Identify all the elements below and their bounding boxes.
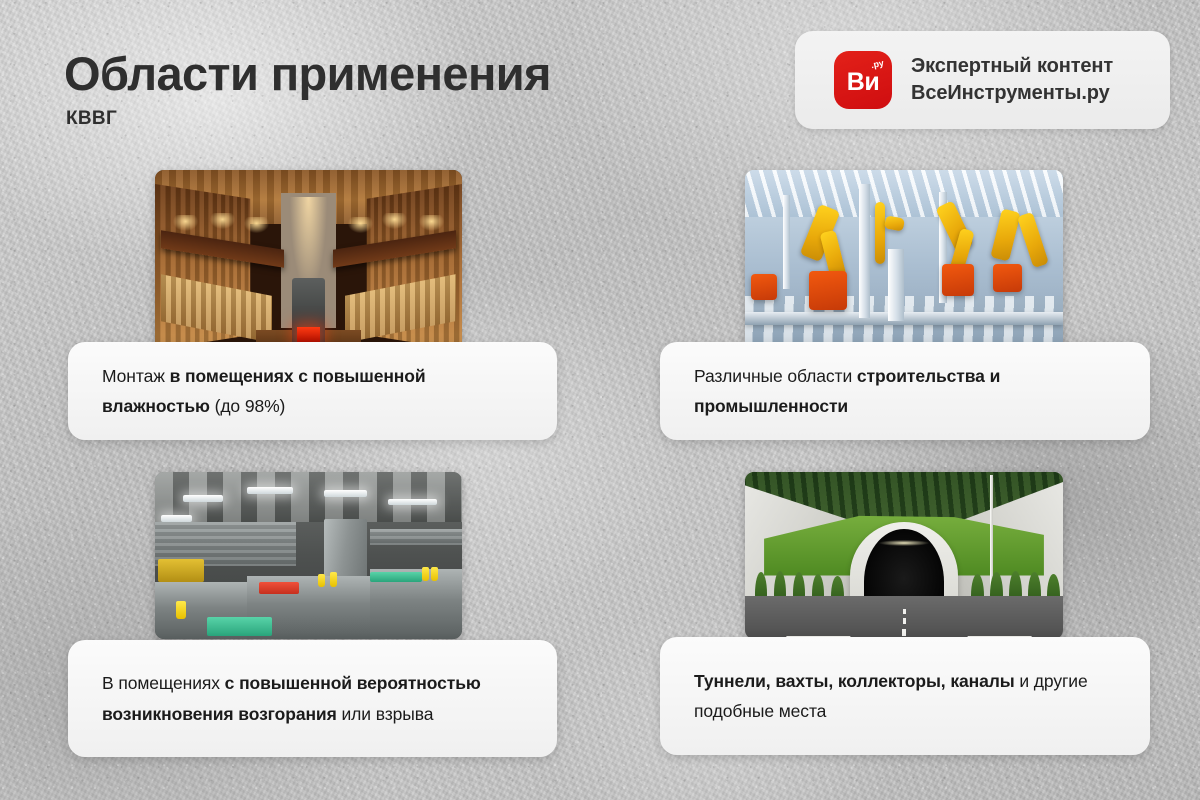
brand-logo-superscript: .ру	[870, 59, 884, 70]
text-card-1: Монтаж в помещениях с повышенной влажнос…	[68, 342, 557, 440]
card-2-text-part-1: Различные области	[694, 366, 857, 386]
card-1-text-part-1: Монтаж	[102, 366, 170, 386]
card-3-text-part-1: В помещениях	[102, 673, 225, 693]
brand-line-2: ВсеИнструменты.ру	[911, 80, 1113, 107]
page-subtitle: КВВГ	[66, 108, 117, 130]
card-1-text: Монтаж в помещениях с повышенной влажнос…	[68, 361, 557, 421]
text-card-2: Различные области строительства и промыш…	[660, 342, 1150, 440]
brand-text: Экспертный контент ВсеИнструменты.ру	[911, 53, 1113, 106]
brand-line-1: Экспертный контент	[911, 53, 1113, 80]
road-tunnel-photo	[745, 472, 1063, 639]
card-4-text-bold: Туннели, вахты, коллекторы, каналы	[694, 671, 1015, 691]
vseinstrumenty-logo-icon: Ви .ру	[834, 51, 892, 109]
card-4-text: Туннели, вахты, коллекторы, каналы и дру…	[660, 666, 1150, 726]
commercial-kitchen-photo	[155, 472, 462, 639]
sauna-interior-photo	[155, 170, 462, 350]
card-1-text-part-2: (до 98%)	[210, 396, 285, 416]
card-3-text-part-2: или взрыва	[337, 704, 434, 724]
brand-logo-letters: Ви	[847, 70, 879, 95]
infographic-slide: Области применения КВВГ Ви .ру Экспертны…	[0, 0, 1200, 800]
text-card-4: Туннели, вахты, коллекторы, каналы и дру…	[660, 637, 1150, 755]
card-2-text: Различные области строительства и промыш…	[660, 361, 1150, 421]
factory-robots-photo	[745, 170, 1063, 350]
card-3-text: В помещениях с повышенной вероятностью в…	[68, 668, 557, 728]
page-title: Области применения	[64, 46, 551, 101]
brand-badge[interactable]: Ви .ру Экспертный контент ВсеИнструменты…	[795, 31, 1170, 129]
text-card-3: В помещениях с повышенной вероятностью в…	[68, 640, 557, 757]
